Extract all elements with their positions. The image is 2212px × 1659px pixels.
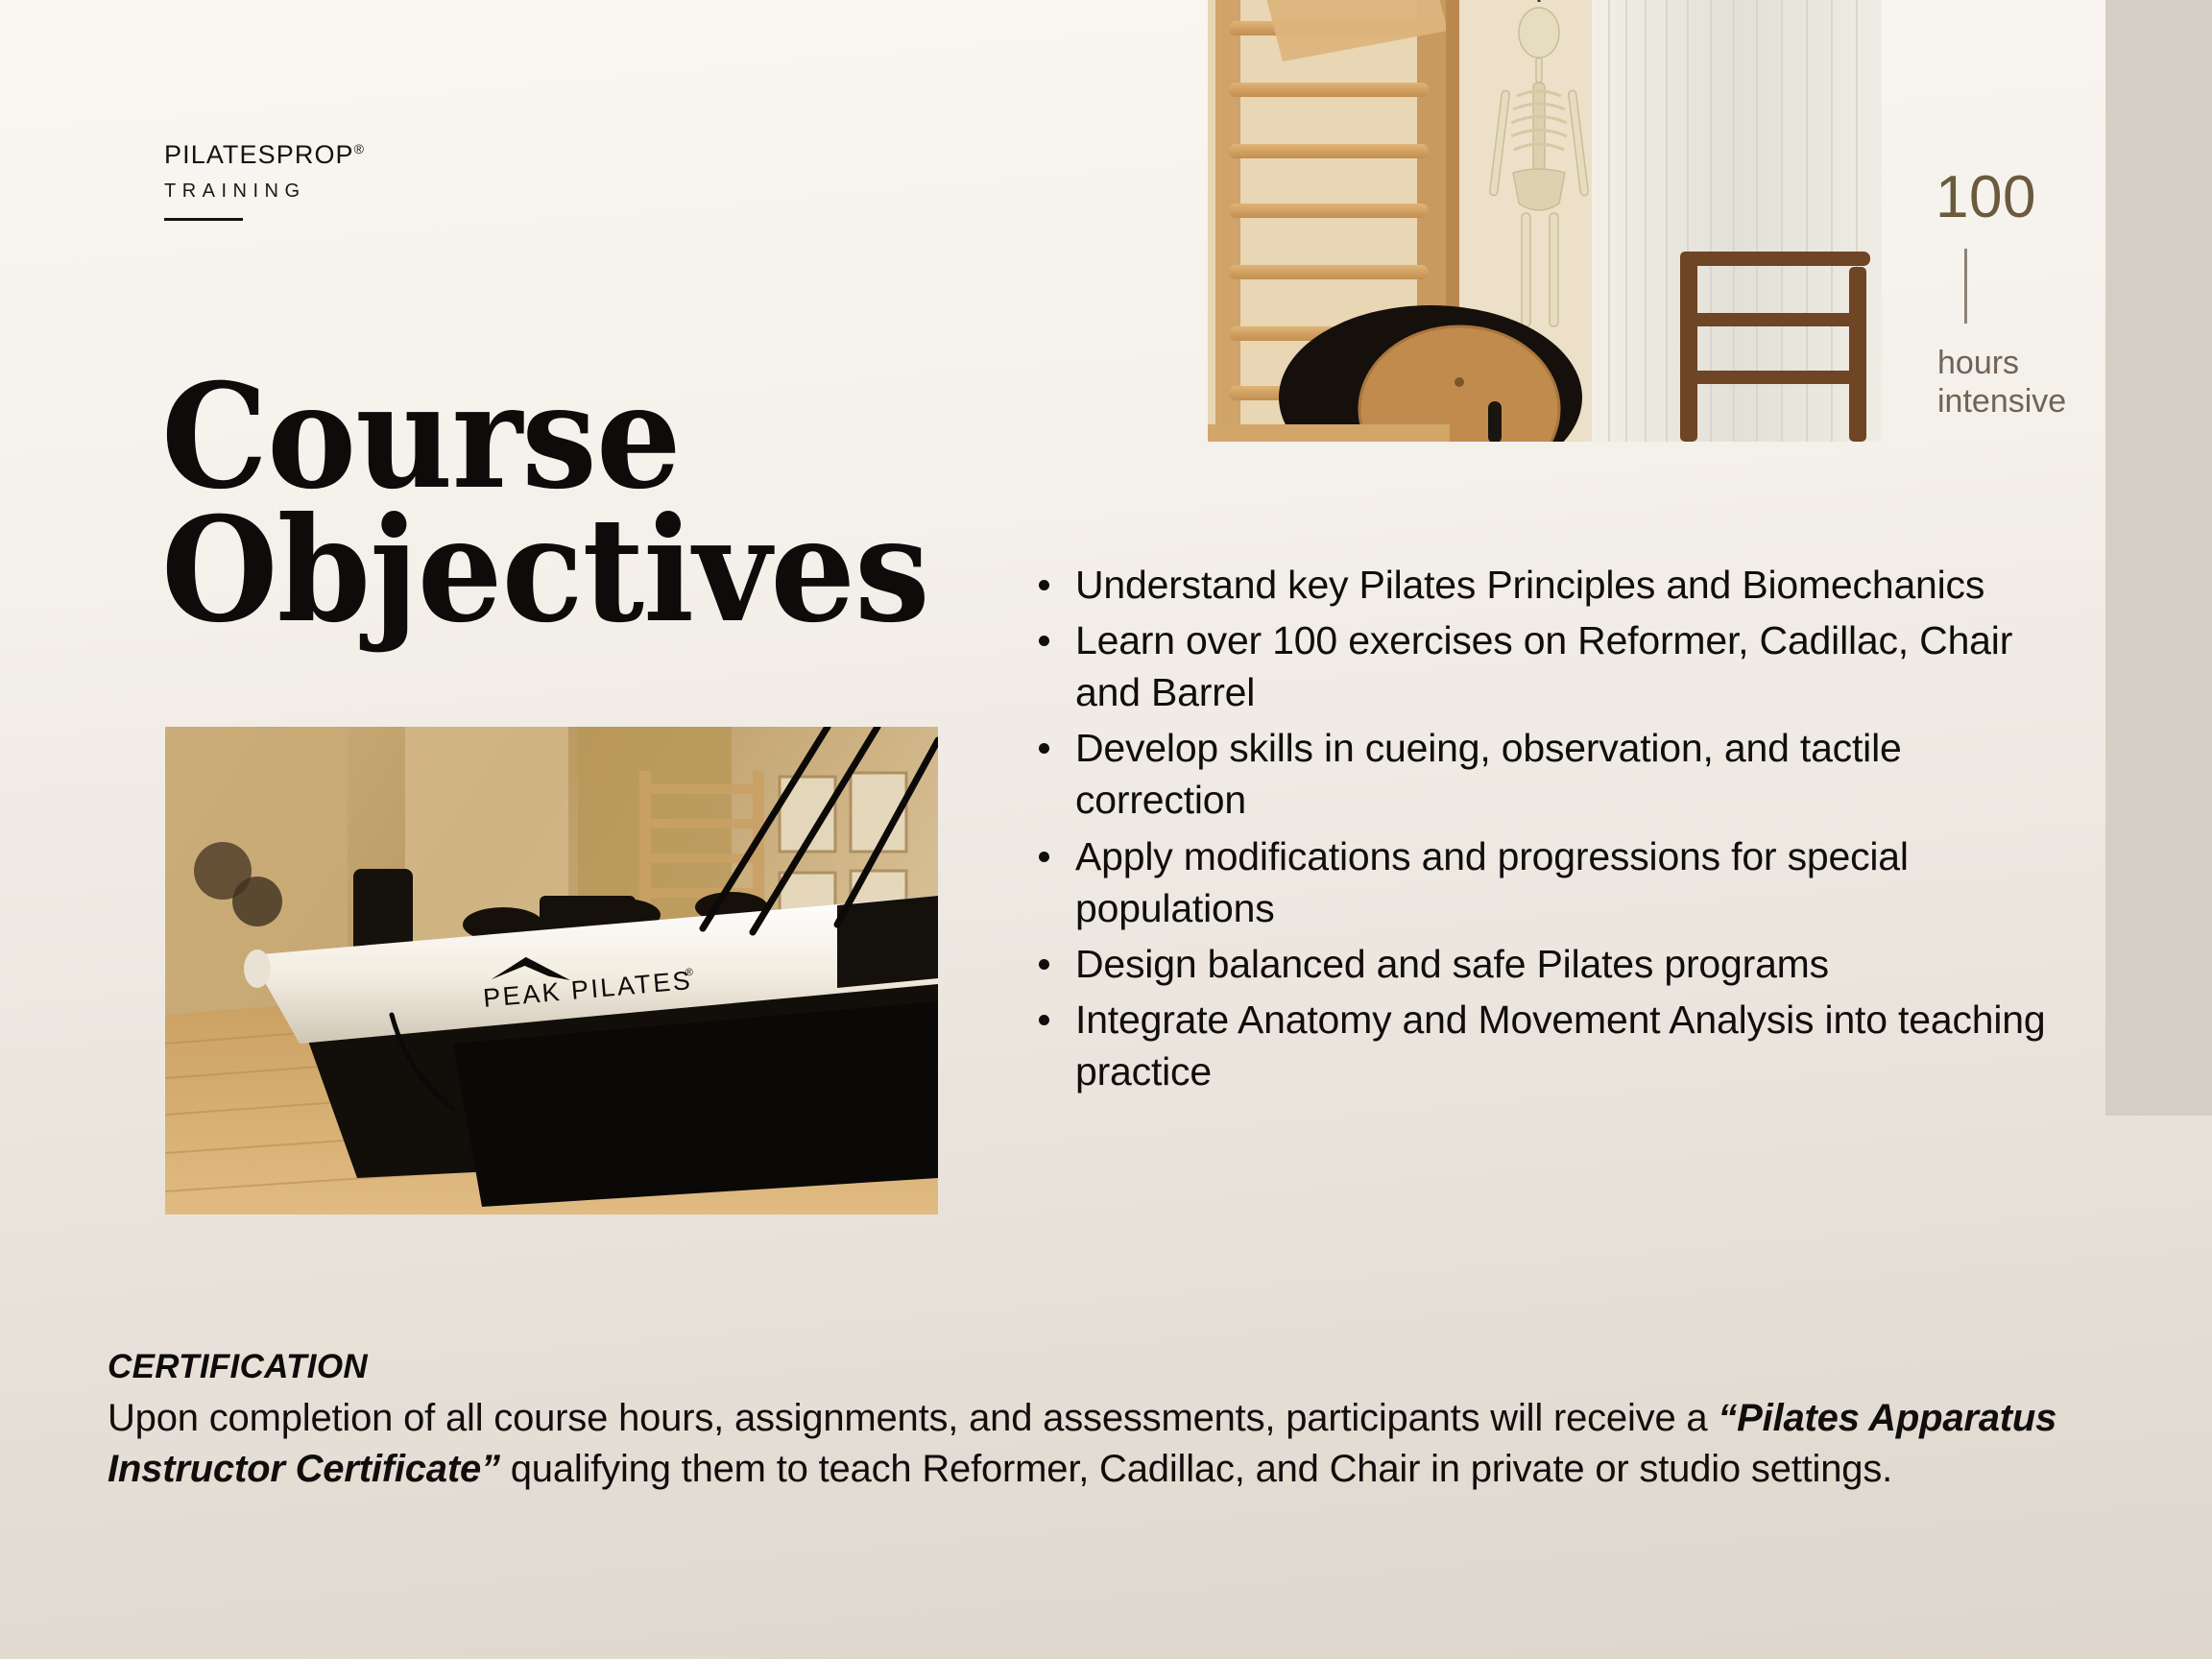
studio-photo <box>1208 0 1882 442</box>
hours-badge: 100 hours intensive <box>1935 168 2080 421</box>
objective-item: Design balanced and safe Pilates program… <box>1029 938 2076 990</box>
hours-badge-caption-line-2: intensive <box>1937 383 2080 421</box>
objective-text: Design balanced and safe Pilates program… <box>1075 942 1829 986</box>
brand-name: PILATESPROP® <box>164 142 365 168</box>
objective-text: Learn over 100 exercises on Reformer, Ca… <box>1075 618 2012 714</box>
brand-logo: PILATESPROP® TRAINING <box>164 142 365 221</box>
brand-name-text: PILATESPROP <box>164 140 354 169</box>
hours-badge-number: 100 <box>1935 168 2080 228</box>
certification-section: CERTIFICATION Upon completion of all cou… <box>108 1348 2133 1495</box>
objective-item: Learn over 100 exercises on Reformer, Ca… <box>1029 614 2076 718</box>
bullet-icon <box>1039 636 1049 646</box>
studio-photo-illustration <box>1208 0 1882 442</box>
hours-badge-caption: hours intensive <box>1937 345 2080 421</box>
reformer-photo: PEAK PILATES ® <box>165 727 938 1214</box>
objective-text: Develop skills in cueing, observation, a… <box>1075 726 1902 822</box>
course-objectives-list: Understand key Pilates Principles and Bi… <box>1029 559 2076 1101</box>
reformer-photo-illustration: PEAK PILATES ® <box>165 727 938 1214</box>
page-title-line-2: Objectives <box>161 504 929 638</box>
registered-mark-icon: ® <box>354 141 365 156</box>
page-title: Course Objectives <box>161 371 929 638</box>
hours-badge-caption-line-1: hours <box>1937 345 2080 383</box>
objective-item: Apply modifications and progressions for… <box>1029 830 2076 934</box>
certification-body-part-2: qualifying them to teach Reformer, Cadil… <box>500 1448 1892 1490</box>
hours-badge-divider <box>1964 249 1967 324</box>
bullet-icon <box>1039 959 1049 970</box>
svg-text:®: ® <box>685 967 693 979</box>
objective-item: Integrate Anatomy and Movement Analysis … <box>1029 994 2076 1097</box>
slide-canvas: PILATESPROP® TRAINING Course Objectives <box>0 0 2212 1659</box>
objective-item: Understand key Pilates Principles and Bi… <box>1029 559 2076 611</box>
objective-item: Develop skills in cueing, observation, a… <box>1029 722 2076 826</box>
bullet-icon <box>1039 1015 1049 1025</box>
bullet-icon <box>1039 743 1049 754</box>
objective-text: Apply modifications and progressions for… <box>1075 834 1909 930</box>
brand-divider <box>164 218 243 221</box>
bullet-icon <box>1039 580 1049 590</box>
bullet-icon <box>1039 852 1049 862</box>
certification-heading: CERTIFICATION <box>108 1348 2133 1386</box>
certification-body: Upon completion of all course hours, ass… <box>108 1393 2133 1495</box>
objective-text: Integrate Anatomy and Movement Analysis … <box>1075 998 2045 1094</box>
right-accent-panel <box>2105 0 2212 1116</box>
brand-subtitle: TRAINING <box>164 181 365 201</box>
objective-text: Understand key Pilates Principles and Bi… <box>1075 563 1984 607</box>
certification-body-part-1: Upon completion of all course hours, ass… <box>108 1397 1718 1439</box>
